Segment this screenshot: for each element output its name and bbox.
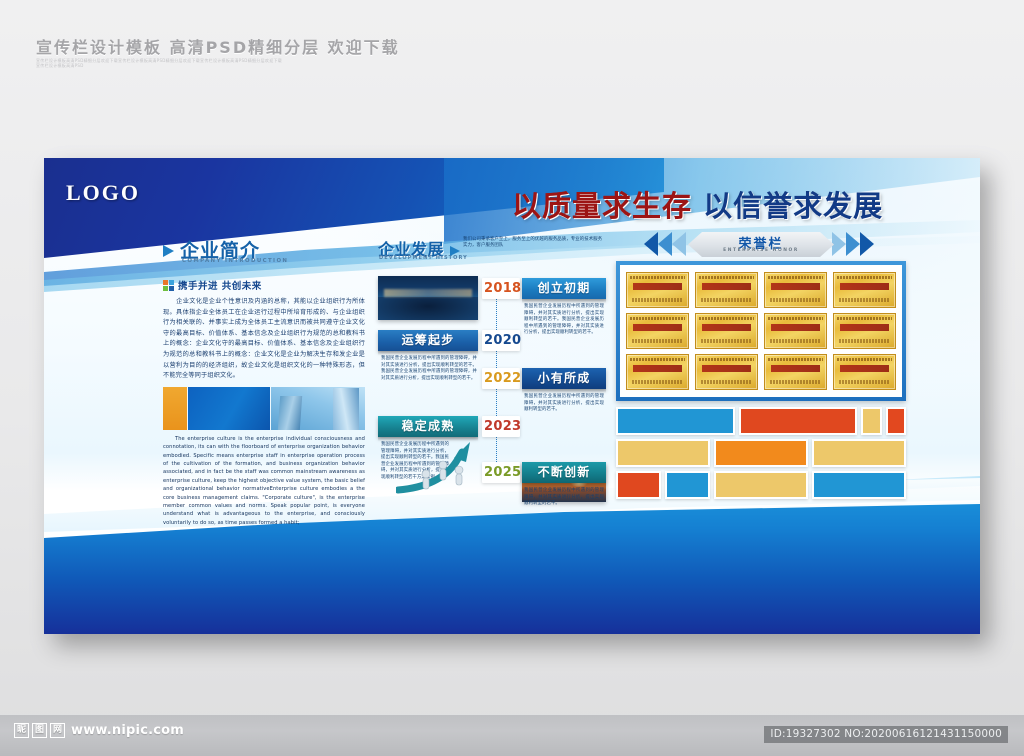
certificate-plaque bbox=[764, 354, 827, 390]
slogan-part-blue: 以信誉求发展 bbox=[703, 189, 883, 223]
logo-text: LOGO bbox=[66, 180, 140, 206]
certificate-plaque bbox=[626, 272, 689, 308]
company-introduction-section: 企业简介 COMPANY INTRODUCTION 携手并进 共创未来 企业文化… bbox=[163, 240, 365, 527]
main-slogan: 以质量求生存 以信誉求发展 bbox=[512, 183, 883, 225]
triangle-arrow-icon bbox=[163, 245, 174, 257]
skyscraper-photo bbox=[271, 387, 365, 430]
intro-heading: 企业简介 COMPANY INTRODUCTION bbox=[163, 240, 365, 270]
photo-placeholder bbox=[812, 439, 906, 467]
photo-placeholder bbox=[714, 439, 808, 467]
image-block-orange bbox=[163, 387, 187, 430]
top-watermark-strip: 宣传栏设计模板 高清PSD精细分层 欢迎下载 宣传栏设计模板高清PSD精细分层欢… bbox=[0, 0, 1024, 92]
intro-body-cn-text: 企业文化是企业个性意识及内涵的总称，其能以企业组织行为所体现。具体指企业全体员工… bbox=[163, 298, 365, 379]
photo-placeholder bbox=[714, 471, 808, 499]
timeline-label-2018: 创立初期 bbox=[522, 278, 606, 299]
certificate-plaque bbox=[626, 313, 689, 349]
timeline-year-2025: 2025 bbox=[484, 465, 518, 480]
certificate-plaque bbox=[764, 313, 827, 349]
photo-placeholder bbox=[886, 407, 907, 435]
nipic-char-2: 图 bbox=[32, 723, 47, 738]
photo-placeholder bbox=[616, 439, 710, 467]
certificate-plaque bbox=[626, 354, 689, 390]
intro-body-english: The enterprise culture is the enterprise… bbox=[163, 435, 365, 527]
certificate-plaque bbox=[695, 272, 758, 308]
certificate-plaque bbox=[833, 272, 896, 308]
timeline-text-2025: 我国民营企业发展历程中所遇到的管理障碍，并对其实质进行分析，提出实现顺利转型的若… bbox=[524, 488, 604, 508]
timeline-year-2022: 2022 bbox=[484, 371, 518, 386]
certificate-plaque bbox=[695, 313, 758, 349]
photo-placeholder bbox=[861, 407, 882, 435]
intro-body-en-text: The enterprise culture is the enterprise… bbox=[163, 436, 365, 526]
certificate-plaque bbox=[764, 272, 827, 308]
photo-placeholder-grid bbox=[616, 407, 906, 499]
photo-placeholder bbox=[739, 407, 858, 435]
image-id-tag: ID:19327302 NO:20200616121431150000 bbox=[764, 726, 1008, 743]
photo-placeholder bbox=[665, 471, 710, 499]
timeline-text-2020: 我国民营企业发展历程中所遇到的管理障碍，并对其实质进行分析，提出实现顺利转型的若… bbox=[381, 356, 477, 382]
timeline-year-2018: 2018 bbox=[484, 281, 518, 296]
timeline-label-2020: 运筹起步 bbox=[378, 330, 478, 351]
intro-subtitle-row: 携手并进 共创未来 bbox=[163, 278, 365, 292]
certificate-plaque bbox=[833, 313, 896, 349]
intro-title-en: COMPANY INTRODUCTION bbox=[182, 258, 288, 264]
history-note-text: 我们公司秉承客户至上，服务至上的优越的服务品质，专业的技术服务实力，客户服务团队 bbox=[463, 237, 605, 250]
timeline-label-2023: 稳定成熟 bbox=[378, 416, 478, 437]
photo-placeholder bbox=[812, 471, 906, 499]
timeline-text-2022: 我国民营企业发展历程中所遇到的管理障碍，并对其实质进行分析，提出实现顺利转型的若… bbox=[524, 394, 604, 414]
nipic-char-3: 网 bbox=[50, 723, 65, 738]
intro-body-chinese: 企业文化是企业个性意识及内涵的总称，其能以企业组织行为所体现。具体指企业全体员工… bbox=[163, 297, 365, 382]
triangle-arrow-icon bbox=[450, 246, 460, 256]
timeline-label-2022: 小有所成 bbox=[522, 368, 606, 389]
certificate-frame bbox=[616, 261, 906, 401]
timeline: 2018 创立初期 我国民营企业发展历程中所遇到的管理障碍，并对其实质进行分析，… bbox=[378, 272, 606, 486]
timeline-photo-city bbox=[378, 276, 478, 320]
timeline-label-2025: 不断创新 bbox=[522, 462, 606, 483]
footer-watermark-bar: 昵 图 网 www.nipic.com ID:19327302 NO:20200… bbox=[0, 714, 1024, 756]
growth-arrow-icon bbox=[396, 438, 484, 494]
honor-title-en: ENTERPRISE HONOR bbox=[688, 248, 834, 253]
top-watermark-title: 宣传栏设计模板 高清PSD精细分层 欢迎下载 bbox=[36, 34, 400, 58]
timeline-year-2020: 2020 bbox=[484, 333, 518, 348]
certificate-plaque bbox=[833, 354, 896, 390]
timeline-text-2018: 我国民营企业发展历程中所遇到的管理障碍，并对其实质进行分析，提出实现顺利转型的若… bbox=[524, 304, 604, 337]
nipic-logo: 昵 图 网 www.nipic.com bbox=[14, 723, 184, 738]
photo-placeholder bbox=[616, 407, 735, 435]
honor-section: 荣誉栏 ENTERPRISE HONOR bbox=[616, 232, 906, 499]
certificate-grid bbox=[620, 265, 902, 397]
intro-image-strip bbox=[163, 387, 365, 430]
four-squares-icon bbox=[163, 280, 174, 291]
nipic-char-1: 昵 bbox=[14, 723, 29, 738]
honor-title-bar: 荣誉栏 ENTERPRISE HONOR bbox=[616, 232, 906, 258]
image-block-blue bbox=[188, 387, 270, 430]
top-watermark-subtext: 宣传栏设计模板高清PSD精细分层欢迎下载宣传栏设计模板高清PSD精细分层欢迎下载… bbox=[36, 58, 286, 69]
history-heading: 企业发展 DEVELOPMENT HISTORY 我们公司秉承客户至上，服务至上… bbox=[378, 240, 606, 270]
slogan-part-red: 以质量求生存 bbox=[512, 189, 692, 223]
photo-placeholder bbox=[616, 471, 661, 499]
intro-subtitle: 携手并进 共创未来 bbox=[178, 278, 262, 292]
timeline-year-2023: 2023 bbox=[484, 419, 518, 434]
certificate-plaque bbox=[695, 354, 758, 390]
nipic-url: www.nipic.com bbox=[71, 723, 184, 738]
development-history-section: 企业发展 DEVELOPMENT HISTORY 我们公司秉承客户至上，服务至上… bbox=[378, 240, 606, 486]
